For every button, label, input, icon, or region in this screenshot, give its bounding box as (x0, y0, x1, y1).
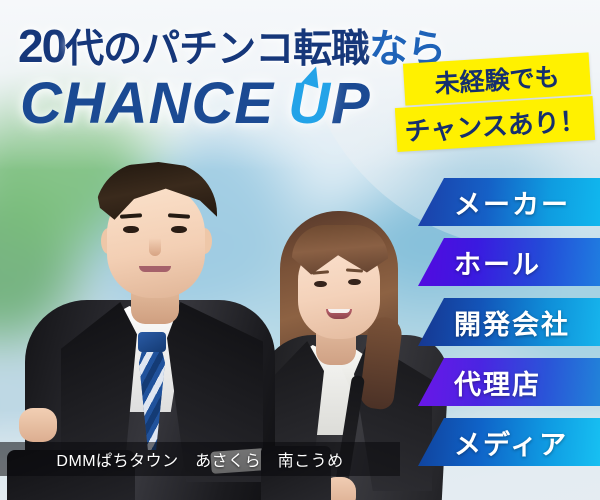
category-button-maker[interactable]: メーカー (418, 178, 600, 226)
man-hand (19, 408, 57, 442)
category-label: ホール (454, 243, 541, 282)
logo-word-chance: CHANCE (20, 71, 274, 136)
recruitment-banner[interactable]: 20代のパチンコ転職なら CHANCEUP 未経験でも チャンスあり！ メーカー… (0, 0, 600, 500)
man-eye-left (123, 226, 139, 233)
highlight-badge: 未経験でも チャンスあり！ (396, 56, 596, 152)
category-label: メーカー (454, 183, 570, 222)
category-button-media[interactable]: メディア (418, 418, 600, 466)
category-button-list: メーカー ホール 開発会社 代理店 メディア (418, 178, 600, 466)
logo-letter-p: P (331, 71, 371, 136)
chance-up-logo: CHANCEUP (20, 70, 371, 137)
category-button-developer[interactable]: 開発会社 (418, 298, 600, 346)
man-eye-right (171, 226, 187, 233)
woman-teeth (328, 309, 350, 313)
headline-number: 20 (18, 20, 65, 72)
woman-eye-left (314, 281, 327, 287)
badge-line-2-text: チャンスあり！ (403, 100, 586, 148)
logo-letter-u: U (288, 70, 331, 137)
category-label: 開発会社 (454, 303, 570, 342)
category-label: 代理店 (454, 363, 541, 402)
woman-eye-right (348, 279, 361, 285)
category-button-hall[interactable]: ホール (418, 238, 600, 286)
man-nose (149, 238, 161, 256)
caption-text: DMMぱちタウン あさくら 南こうめ (56, 447, 343, 471)
category-label: メディア (454, 423, 568, 462)
man-tie-knot (138, 332, 166, 352)
headline-text: 代のパチンコ転職 (65, 28, 369, 71)
headline: 20代のパチンコ転職なら (18, 18, 445, 74)
man-mouth (139, 266, 171, 272)
category-button-agency[interactable]: 代理店 (418, 358, 600, 406)
caption-bar: DMMぱちタウン あさくら 南こうめ (0, 442, 400, 476)
badge-line-1-text: 未経験でも (434, 57, 561, 101)
